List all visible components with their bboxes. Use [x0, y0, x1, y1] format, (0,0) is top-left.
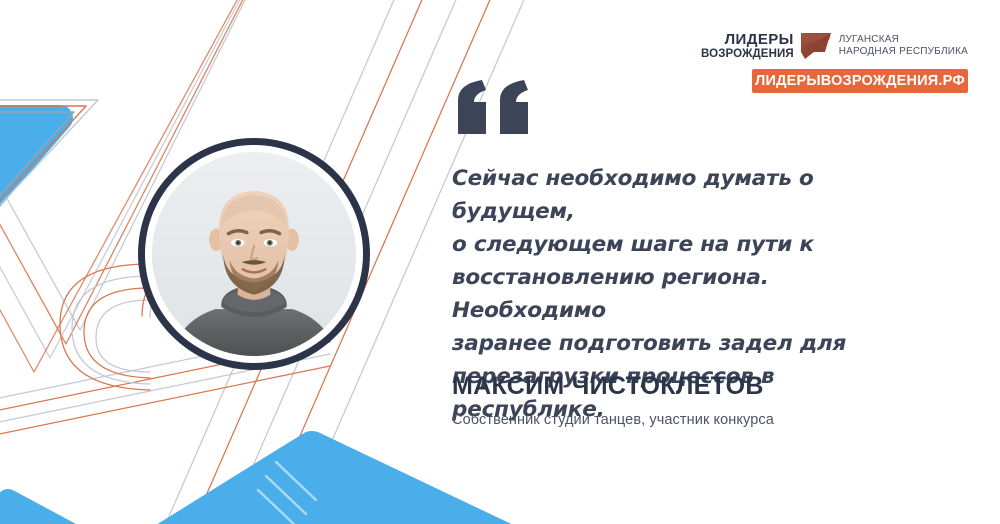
quote-card: Сейчас необходимо думать о будущем, о сл… — [0, 0, 1000, 524]
brand-logo[interactable]: ЛИДЕРЫ ВОЗРОЖДЕНИЯ ЛУГАНСКАЯ НАРОДНАЯ РЕ… — [752, 30, 968, 93]
brand-region-line-2: НАРОДНАЯ РЕСПУБЛИКА — [839, 46, 968, 59]
avatar-ring-gap — [145, 145, 363, 363]
avatar-photo — [152, 152, 356, 356]
brand-logo-row: ЛИДЕРЫ ВОЗРОЖДЕНИЯ ЛУГАНСКАЯ НАРОДНАЯ РЕ… — [752, 30, 968, 62]
brand-line-2: ВОЗРОЖДЕНИЯ — [701, 48, 794, 60]
brand-line-1: ЛИДЕРЫ — [701, 32, 794, 48]
brand-region: ЛУГАНСКАЯ НАРОДНАЯ РЕСПУБЛИКА — [838, 34, 968, 59]
author-name: МАКСИМ ЧИСТОКЛЕТОВ — [452, 372, 764, 401]
site-url-text: ЛИДЕРЫВОЗРОЖДЕНИЯ.РФ — [755, 73, 965, 89]
z-mark-icon — [799, 30, 833, 62]
author-role: Собственник студии танцев, участник конк… — [452, 412, 774, 428]
site-url-badge[interactable]: ЛИДЕРЫВОЗРОЖДЕНИЯ.РФ — [752, 69, 968, 93]
brand-wordmark: ЛИДЕРЫ ВОЗРОЖДЕНИЯ — [701, 32, 794, 61]
avatar — [138, 138, 370, 370]
quote-open-icon — [452, 78, 542, 138]
brand-region-line-1: ЛУГАНСКАЯ — [839, 34, 968, 47]
